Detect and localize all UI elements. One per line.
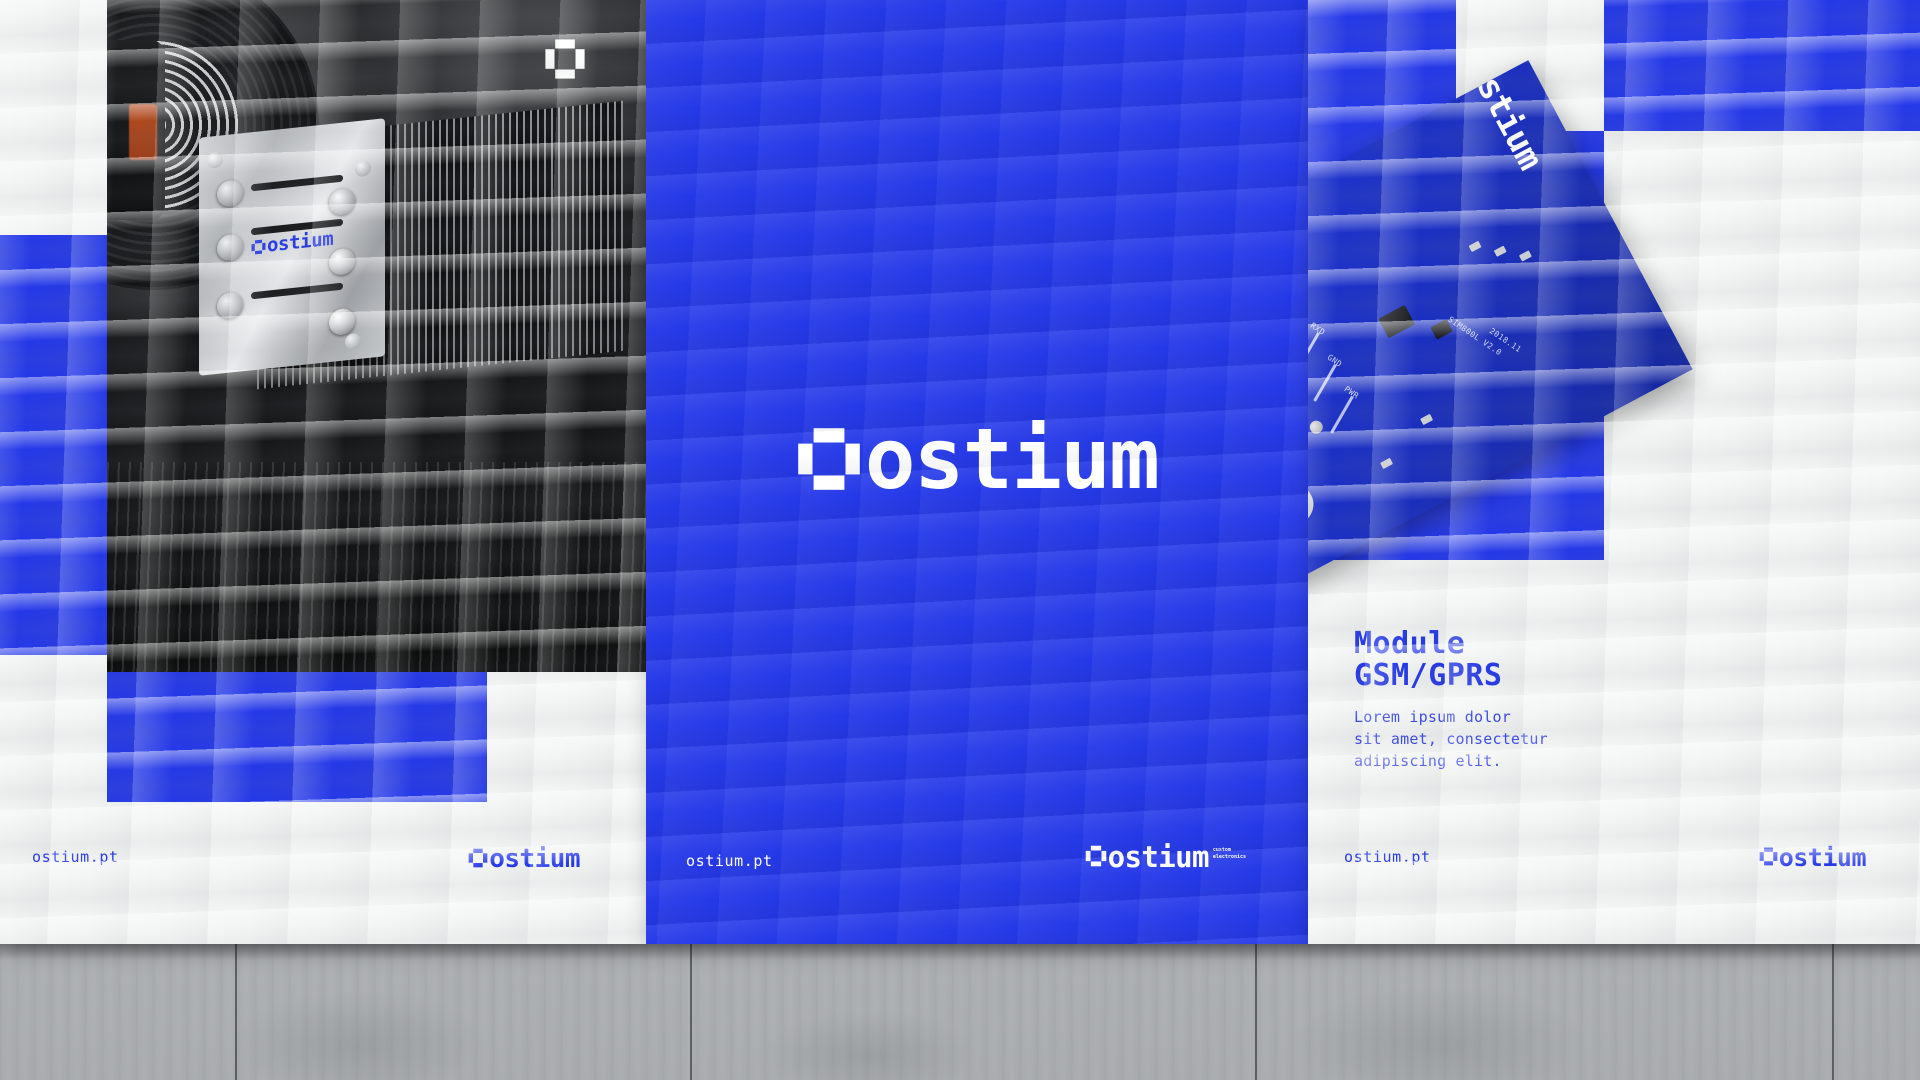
footer-logo-text: ostium <box>1779 843 1866 872</box>
ostium-square-mark-icon <box>468 848 488 868</box>
ostium-square-mark-icon <box>1759 847 1778 866</box>
product-description: Lorem ipsum dolor sit amet, consectetur … <box>1354 706 1548 773</box>
footer-url[interactable]: ostium.pt <box>1344 848 1431 866</box>
poster-middle: ostium ostium.pt ostium custom electroni… <box>646 0 1308 944</box>
ostium-square-mark-icon <box>796 426 862 492</box>
product-copy-block: Module GSM/GPRS Lorem ipsum dolor sit am… <box>1354 628 1548 772</box>
ostium-square-mark-icon <box>544 38 586 80</box>
primary-wordmark-text: ostium <box>865 410 1158 508</box>
heatsink-photograph: ostium <box>107 0 646 672</box>
ostium-square-mark-icon <box>251 238 266 255</box>
wall-seam <box>1255 944 1257 1080</box>
footer-url[interactable]: ostium.pt <box>686 852 773 870</box>
footer-logo-text: ostium <box>489 844 580 874</box>
primary-wordmark: ostium <box>646 410 1308 508</box>
wall-seam <box>690 944 692 1080</box>
heatsink-mounting-plate: ostium <box>199 118 385 376</box>
fan-brand-sticker <box>129 104 157 160</box>
ostium-square-mark-icon <box>1842 46 1882 86</box>
poster-left: ostium ostium.pt ostium <box>0 0 646 944</box>
poster-right: VCC TXD RXD GND PWR SIM800L V2.0 2018.11… <box>1308 0 1920 944</box>
footer-logo: ostium <box>468 844 580 874</box>
footer-logo: ostium custom electronics <box>1085 840 1246 874</box>
footer-logo: ostium <box>1759 843 1866 872</box>
footer-logo-text: ostium <box>1108 840 1209 874</box>
footer-url[interactable]: ostium.pt <box>32 848 119 866</box>
accent-block-bottom <box>107 672 487 802</box>
wall-seam <box>1832 944 1834 1080</box>
product-title: Module GSM/GPRS <box>1354 628 1548 692</box>
footer-tagline: custom electronics <box>1213 847 1246 860</box>
wall-ledge-shadow <box>0 944 1920 960</box>
motherboard <box>107 462 646 672</box>
pcb-mounting-hole <box>1308 477 1320 531</box>
poster-mockup-scene: ostium ostium.pt ostium <box>0 0 1920 1080</box>
ostium-square-mark-icon <box>1085 845 1107 867</box>
accent-bar-left <box>0 235 107 655</box>
